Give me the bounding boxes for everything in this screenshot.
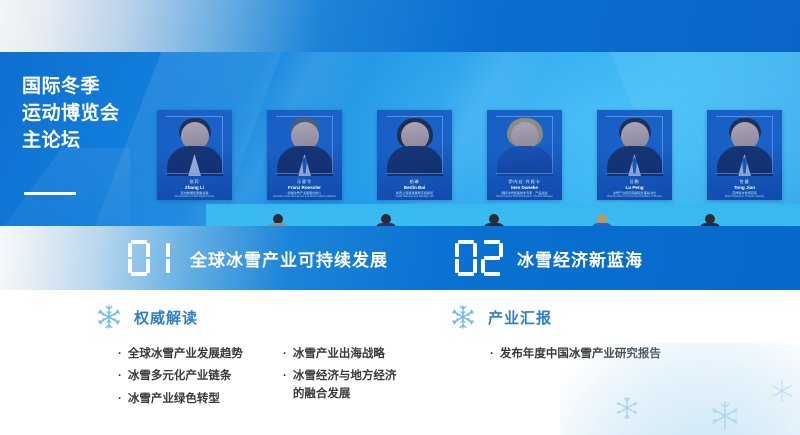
seven-segment-digit xyxy=(455,240,477,276)
speaker-role-en: Founder of the German Ice and Snow Indus… xyxy=(270,195,339,198)
speaker-role-en: Trade Development Manager, NZ xyxy=(380,195,449,198)
bullet-item: · 冰雪经济与地方经济的融合发展 xyxy=(283,368,405,403)
section-number-band: 全球冰雪产业可持续发展 xyxy=(0,226,800,290)
section-label-02: 冰雪经济新蓝海 xyxy=(517,246,643,271)
stage-panelist xyxy=(477,214,511,226)
bullet-marker: · xyxy=(283,346,287,363)
stage-panelist xyxy=(369,214,403,226)
decorative-snowflake-icon xyxy=(768,377,796,405)
speaker-card-row: 张莉 Zhang Li 亚洲数据集团副总裁 Co-President of As… xyxy=(157,60,797,176)
bullet-item: · 发布年度中国冰雪产业研究报告 xyxy=(490,346,661,363)
speaker-card[interactable]: 柏琳 Berlin Bai 新西兰贸易发展局高级顾问 Trade Develop… xyxy=(377,110,452,200)
speaker-caption: 张莉 Zhang Li 亚洲数据集团副总裁 Co-President of As… xyxy=(157,179,232,198)
speaker-role-en: Vice President of Snow and President of … xyxy=(600,195,669,198)
lower-content-area: 权威解读 · 全球冰雪产业发展趋势 · 冰雪多元化产业链条 · 冰雪产业绿色转型… xyxy=(0,290,800,435)
bullet-label: 冰雪多元化产业链条 xyxy=(128,368,232,385)
speaker-caption: 佟健 Tong Jian 花样滑冰世界冠军 World Champion in … xyxy=(707,179,782,198)
speaker-role-en: World Champion in Figure Skating xyxy=(710,195,779,198)
decorative-snowflake-icon xyxy=(614,395,640,421)
bullet-item: · 冰雪多元化产业链条 xyxy=(118,368,243,385)
stage-panelist xyxy=(693,214,727,226)
column-title-authoritative: 权威解读 xyxy=(134,307,198,328)
speaker-role-en: Co-President of Asia Digital Group xyxy=(160,195,229,198)
speaker-caption: 乐意华 Franz Roessler 德国冰雪产业联盟创始人 Founder o… xyxy=(267,179,342,198)
section-entry-01[interactable]: 全球冰雪产业可持续发展 xyxy=(128,226,388,290)
seven-segment-digit xyxy=(154,240,176,276)
speaker-card[interactable]: 佟健 Tong Jian 花样滑冰世界冠军 World Champion in … xyxy=(707,110,782,200)
snowflake-icon xyxy=(96,304,122,330)
forum-title-line-3: 主论坛 xyxy=(22,128,152,155)
bullet-marker: · xyxy=(118,346,122,363)
speaker-card[interactable]: 张莉 Zhang Li 亚洲数据集团副总裁 Co-President of As… xyxy=(157,110,232,200)
bullet-group-2a: · 发布年度中国冰雪产业研究报告 xyxy=(490,346,661,368)
section-number-02 xyxy=(455,240,503,276)
bullet-label: 全球冰雪产业发展趋势 xyxy=(128,346,243,363)
bullet-group-1b: · 冰雪产业出海战略 · 冰雪经济与地方经济的融合发展 xyxy=(283,346,405,408)
stage-panelist xyxy=(261,214,295,226)
column-header-industry-report: 产业汇报 xyxy=(450,304,552,330)
forum-title-line-1: 国际冬季 xyxy=(22,74,152,101)
bullet-marker: · xyxy=(283,368,287,385)
bullet-item: · 全球冰雪产业发展趋势 xyxy=(118,346,243,363)
speaker-card[interactable]: 乐意华 Franz Roessler 德国冰雪产业联盟创始人 Founder o… xyxy=(267,110,342,200)
section-entry-02[interactable]: 冰雪经济新蓝海 xyxy=(455,226,643,290)
speaker-role-en: Winter Sports Technical Expert, Product … xyxy=(490,195,559,198)
decorative-snowflake-icon xyxy=(708,399,742,433)
hero-banner: 国际冬季 运动博览会 主论坛 张莉 Zhang Li 亚洲数据集团副总裁 Co-… xyxy=(0,52,800,226)
bullet-label: 发布年度中国冰雪产业研究报告 xyxy=(500,346,661,363)
bullet-marker: · xyxy=(118,391,122,408)
speaker-card[interactable]: 吕鹏 Lu Peng 冰雪产业研究院副院长兼秘书长 Vice President… xyxy=(597,110,672,200)
snowflake-icon xyxy=(450,304,476,330)
title-underline-rule xyxy=(24,192,76,195)
forum-title: 国际冬季 运动博览会 主论坛 xyxy=(22,74,152,155)
speaker-caption: 吕鹏 Lu Peng 冰雪产业研究院副院长兼秘书长 Vice President… xyxy=(597,179,672,198)
speaker-caption: 伊内丝·丹妮卡 Ines Daneke 国际冰雪装备技术专家 · 产品总监 Wi… xyxy=(487,179,562,198)
bullet-group-1a: · 全球冰雪产业发展趋势 · 冰雪多元化产业链条 · 冰雪产业绿色转型 xyxy=(118,346,243,413)
bullet-item: · 冰雪产业出海战略 xyxy=(283,346,405,363)
section-label-01: 全球冰雪产业可持续发展 xyxy=(190,246,388,271)
bullet-label: 冰雪产业出海战略 xyxy=(293,346,385,363)
seven-segment-digit xyxy=(481,240,503,276)
seven-segment-digit xyxy=(128,240,150,276)
column-title-industry-report: 产业汇报 xyxy=(488,307,552,328)
slide-canvas: 国际冬季 运动博览会 主论坛 张莉 Zhang Li 亚洲数据集团副总裁 Co-… xyxy=(0,0,800,435)
section-number-01 xyxy=(128,240,176,276)
top-gradient-strip xyxy=(0,0,800,52)
bullet-item: · 冰雪产业绿色转型 xyxy=(118,391,243,408)
bullet-label: 冰雪经济与地方经济的融合发展 xyxy=(293,368,405,403)
panel-stage-photo xyxy=(206,204,800,226)
stage-panelist xyxy=(585,214,619,226)
speaker-card[interactable]: 伊内丝·丹妮卡 Ines Daneke 国际冰雪装备技术专家 · 产品总监 Wi… xyxy=(487,110,562,200)
speaker-caption: 柏琳 Berlin Bai 新西兰贸易发展局高级顾问 Trade Develop… xyxy=(377,179,452,198)
forum-title-line-2: 运动博览会 xyxy=(22,101,152,128)
column-header-authoritative: 权威解读 xyxy=(96,304,198,330)
bullet-marker: · xyxy=(118,368,122,385)
bullet-marker: · xyxy=(490,346,494,363)
bullet-label: 冰雪产业绿色转型 xyxy=(128,391,220,408)
